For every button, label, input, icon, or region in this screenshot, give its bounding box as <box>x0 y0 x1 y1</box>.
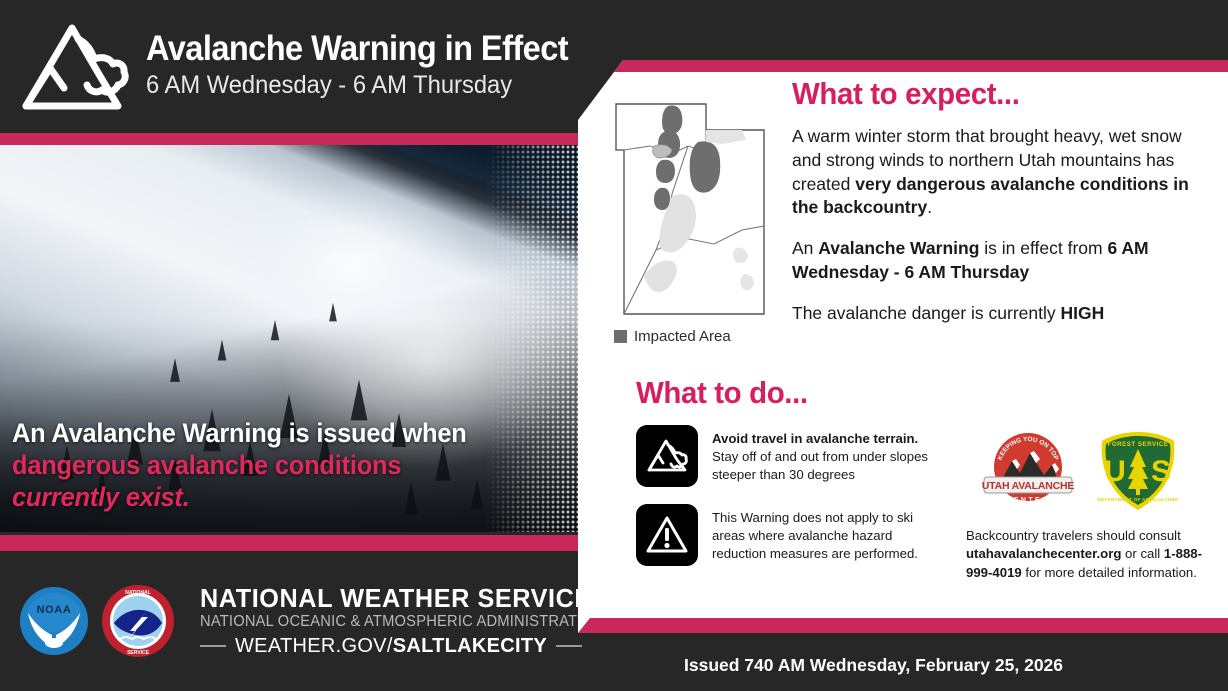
todo-1-bold: Avoid travel in avalanche terrain. <box>712 431 918 446</box>
agency-parent-name: NATIONAL OCEANIC & ATMOSPHERIC ADMINISTR… <box>200 612 604 632</box>
svg-text:DEPARTMENT OF AGRICULTURE: DEPARTMENT OF AGRICULTURE <box>1098 497 1179 502</box>
uac-website-link[interactable]: utahavalanchecenter.org <box>966 546 1121 561</box>
avalanche-photo: An Avalanche Warning is issued when dang… <box>0 145 614 532</box>
impacted-area-map: Impacted Area <box>610 76 778 345</box>
warning-triangle-icon <box>636 504 698 566</box>
what-to-do-heading: What to do... <box>636 375 1198 411</box>
expect-p3-a: The avalanche danger is currently <box>792 303 1060 323</box>
panel-content: Impacted Area What to expect... A warm w… <box>610 76 1228 583</box>
rule-left <box>200 645 226 647</box>
avalanche-warning-infographic: Avalanche Warning in Effect 6 AM Wednesd… <box>0 0 1228 691</box>
contact-a: Backcountry travelers should consult <box>966 528 1181 543</box>
avalanche-mountain-glyph <box>645 434 689 478</box>
expect-p2-c: is in effect from <box>979 238 1107 258</box>
page-title: Avalanche Warning in Effect <box>146 30 568 67</box>
photo-divider-rule <box>0 535 614 551</box>
header-divider-rule <box>0 133 614 145</box>
expect-p2-bold-1: Avalanche Warning <box>818 238 979 258</box>
office-url[interactable]: WEATHER.GOV/SALTLAKECITY <box>235 634 547 658</box>
svg-text:CENTER: CENTER <box>1006 497 1049 504</box>
svg-text:U: U <box>1104 455 1126 488</box>
what-to-do-items: Avoid travel in avalanche terrain. Stay … <box>636 425 936 583</box>
expect-paragraph-1: A warm winter storm that brought heavy, … <box>792 125 1214 220</box>
expect-paragraph-3: The avalanche danger is currently HIGH <box>792 302 1214 326</box>
legend-swatch-impacted <box>614 330 627 343</box>
us-forest-service-logo: FOREST SERVICE U S DEPARTMENT OF AGRICUL… <box>1096 429 1180 513</box>
svg-text:UTAH AVALANCHE: UTAH AVALANCHE <box>982 480 1075 492</box>
svg-text:FOREST SERVICE: FOREST SERVICE <box>1108 441 1169 448</box>
url-prefix: WEATHER.GOV/ <box>235 635 393 657</box>
todo-1-rest: Stay off of and out from under slopes st… <box>712 449 928 482</box>
avalanche-mountain-icon <box>14 14 130 118</box>
avalanche-mountain-icon <box>636 425 698 487</box>
todo-item-ski-areas: This Warning does not apply to ski areas… <box>636 504 936 566</box>
warning-triangle-glyph <box>645 513 689 557</box>
contact-info: Backcountry travelers should consult uta… <box>966 527 1228 582</box>
caption-line-2: dangerous avalanche conditions <box>12 450 538 482</box>
nws-footer: NOAA NATIONAL SERVICE NATIONAL WEATHER S… <box>0 551 614 691</box>
danger-level-badge: HIGH <box>1060 303 1104 323</box>
todo-text-ski-areas: This Warning does not apply to ski areas… <box>712 504 936 564</box>
office-url-row: WEATHER.GOV/SALTLAKECITY <box>200 634 625 658</box>
utah-map-icon <box>610 98 770 320</box>
agency-name: NATIONAL WEATHER SERVICE <box>200 584 613 613</box>
what-to-expect-heading: What to expect... <box>792 76 1193 112</box>
expect-p2-a: An <box>792 238 818 258</box>
partner-logos-and-contact: KEEPING YOU ON TOP UTAH AVALANCHE CENTER <box>966 425 1228 583</box>
expect-p1-c: . <box>927 197 932 217</box>
expect-block: What to expect... A warm winter storm th… <box>792 76 1228 345</box>
todo-2-rest: This Warning does not apply to ski areas… <box>712 510 918 561</box>
svg-text:SERVICE: SERVICE <box>127 650 150 656</box>
expect-paragraph-2: An Avalanche Warning is in effect from 6… <box>792 237 1214 285</box>
header-band: Avalanche Warning in Effect 6 AM Wednesd… <box>0 0 614 133</box>
left-column: Avalanche Warning in Effect 6 AM Wednesd… <box>0 0 614 691</box>
todo-item-avoid-travel: Avoid travel in avalanche terrain. Stay … <box>636 425 936 487</box>
caption-line-1: An Avalanche Warning is issued when <box>12 418 538 450</box>
header-inner: Avalanche Warning in Effect 6 AM Wednesd… <box>14 14 600 118</box>
noaa-logo-icon: NOAA <box>18 585 90 657</box>
rule-right <box>556 645 582 647</box>
todo-text-avoid-travel: Avoid travel in avalanche terrain. Stay … <box>712 425 936 485</box>
caption-line-3: currently exist. <box>12 482 538 514</box>
contact-c: or call <box>1121 546 1164 561</box>
svg-text:NATIONAL: NATIONAL <box>125 590 150 596</box>
utah-avalanche-center-logo: KEEPING YOU ON TOP UTAH AVALANCHE CENTER <box>976 429 1080 513</box>
header-text: Avalanche Warning in Effect 6 AM Wednesd… <box>146 30 600 101</box>
nws-logo-icon: NATIONAL SERVICE <box>100 583 176 659</box>
warning-timeframe: 6 AM Wednesday - 6 AM Thursday <box>146 70 577 101</box>
expect-row: Impacted Area What to expect... A warm w… <box>610 76 1228 345</box>
contact-e: for more detailed information. <box>1022 565 1197 580</box>
svg-text:S: S <box>1151 455 1171 488</box>
what-to-do-section: What to do... <box>610 375 1228 583</box>
map-legend: Impacted Area <box>614 328 778 345</box>
what-to-do-columns: Avoid travel in avalanche terrain. Stay … <box>636 425 1228 583</box>
url-office: SALTLAKECITY <box>393 635 547 657</box>
svg-text:NOAA: NOAA <box>37 604 72 616</box>
partner-logo-row: KEEPING YOU ON TOP UTAH AVALANCHE CENTER <box>966 429 1228 513</box>
nws-footer-text: NATIONAL WEATHER SERVICE NATIONAL OCEANI… <box>200 584 625 659</box>
issued-timestamp: Issued 740 AM Wednesday, February 25, 20… <box>684 655 1184 677</box>
photo-caption: An Avalanche Warning is issued when dang… <box>12 418 572 514</box>
legend-label-impacted: Impacted Area <box>634 328 731 345</box>
